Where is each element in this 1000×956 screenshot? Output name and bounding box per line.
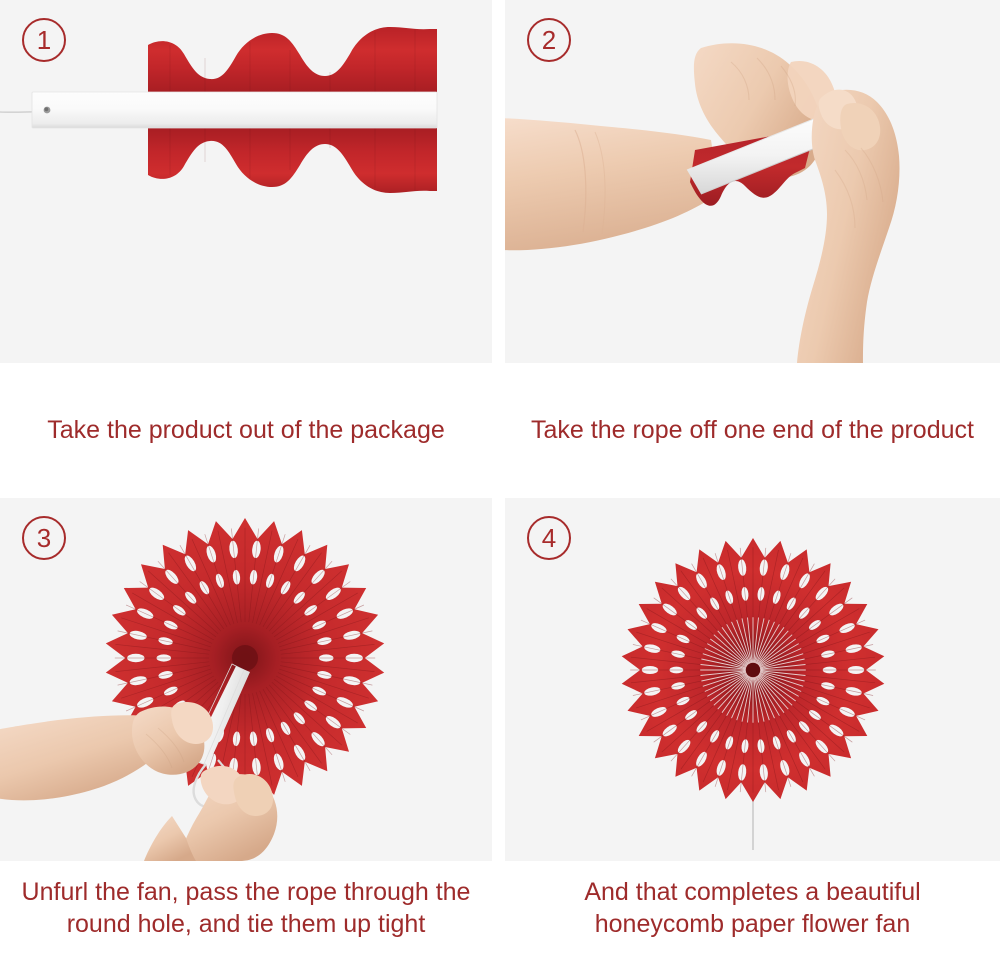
step-2-badge: 2 <box>527 18 571 62</box>
step-3-caption-line-1: Unfurl the fan, pass the rope through th… <box>22 878 471 906</box>
step-1-badge: 1 <box>22 18 66 62</box>
step-4-panel: 4 <box>505 498 1000 861</box>
step-1-illustration <box>0 0 492 363</box>
step-4-illustration <box>505 498 1000 861</box>
gutter-vertical-bottom <box>492 498 505 861</box>
left-forearm <box>505 118 719 250</box>
gutter-caption-2 <box>492 861 505 956</box>
finished-fan-graphic <box>505 498 1000 861</box>
step-3-badge: 3 <box>22 516 66 560</box>
gutter-caption-1 <box>492 363 505 498</box>
folded-fan-graphic <box>0 0 492 363</box>
step-4-caption-line-1: And that completes a beautiful <box>584 878 920 906</box>
step-1-panel: 1 <box>0 0 492 363</box>
step-3-illustration <box>0 498 492 861</box>
fan-center-hub-4 <box>746 663 760 677</box>
step-4-badge: 4 <box>527 516 571 560</box>
rope-eyelet-inner <box>45 107 49 111</box>
fan-upper-red <box>148 27 437 92</box>
step-2-illustration <box>505 0 1000 363</box>
white-card-strip <box>32 92 437 128</box>
hands-removing-rope-graphic <box>505 0 1000 363</box>
step-3-caption: Unfurl the fan, pass the rope through th… <box>0 861 492 956</box>
hands-unfurling-fan-graphic <box>0 498 492 861</box>
step-3-panel: 3 <box>0 498 492 861</box>
step-4-caption-line-2: honeycomb paper flower fan <box>595 910 910 938</box>
step-2-caption: Take the rope off one end of the product <box>505 363 1000 498</box>
fan-lower-red <box>148 128 437 193</box>
step-4-caption: And that completes a beautiful honeycomb… <box>505 861 1000 956</box>
instruction-sheet: 1 <box>0 0 1000 956</box>
step-2-panel: 2 <box>505 0 1000 363</box>
step-1-caption: Take the product out of the package <box>0 363 492 498</box>
step-3-caption-line-2: round hole, and tie them up tight <box>67 910 426 938</box>
gutter-vertical-top <box>492 0 505 363</box>
